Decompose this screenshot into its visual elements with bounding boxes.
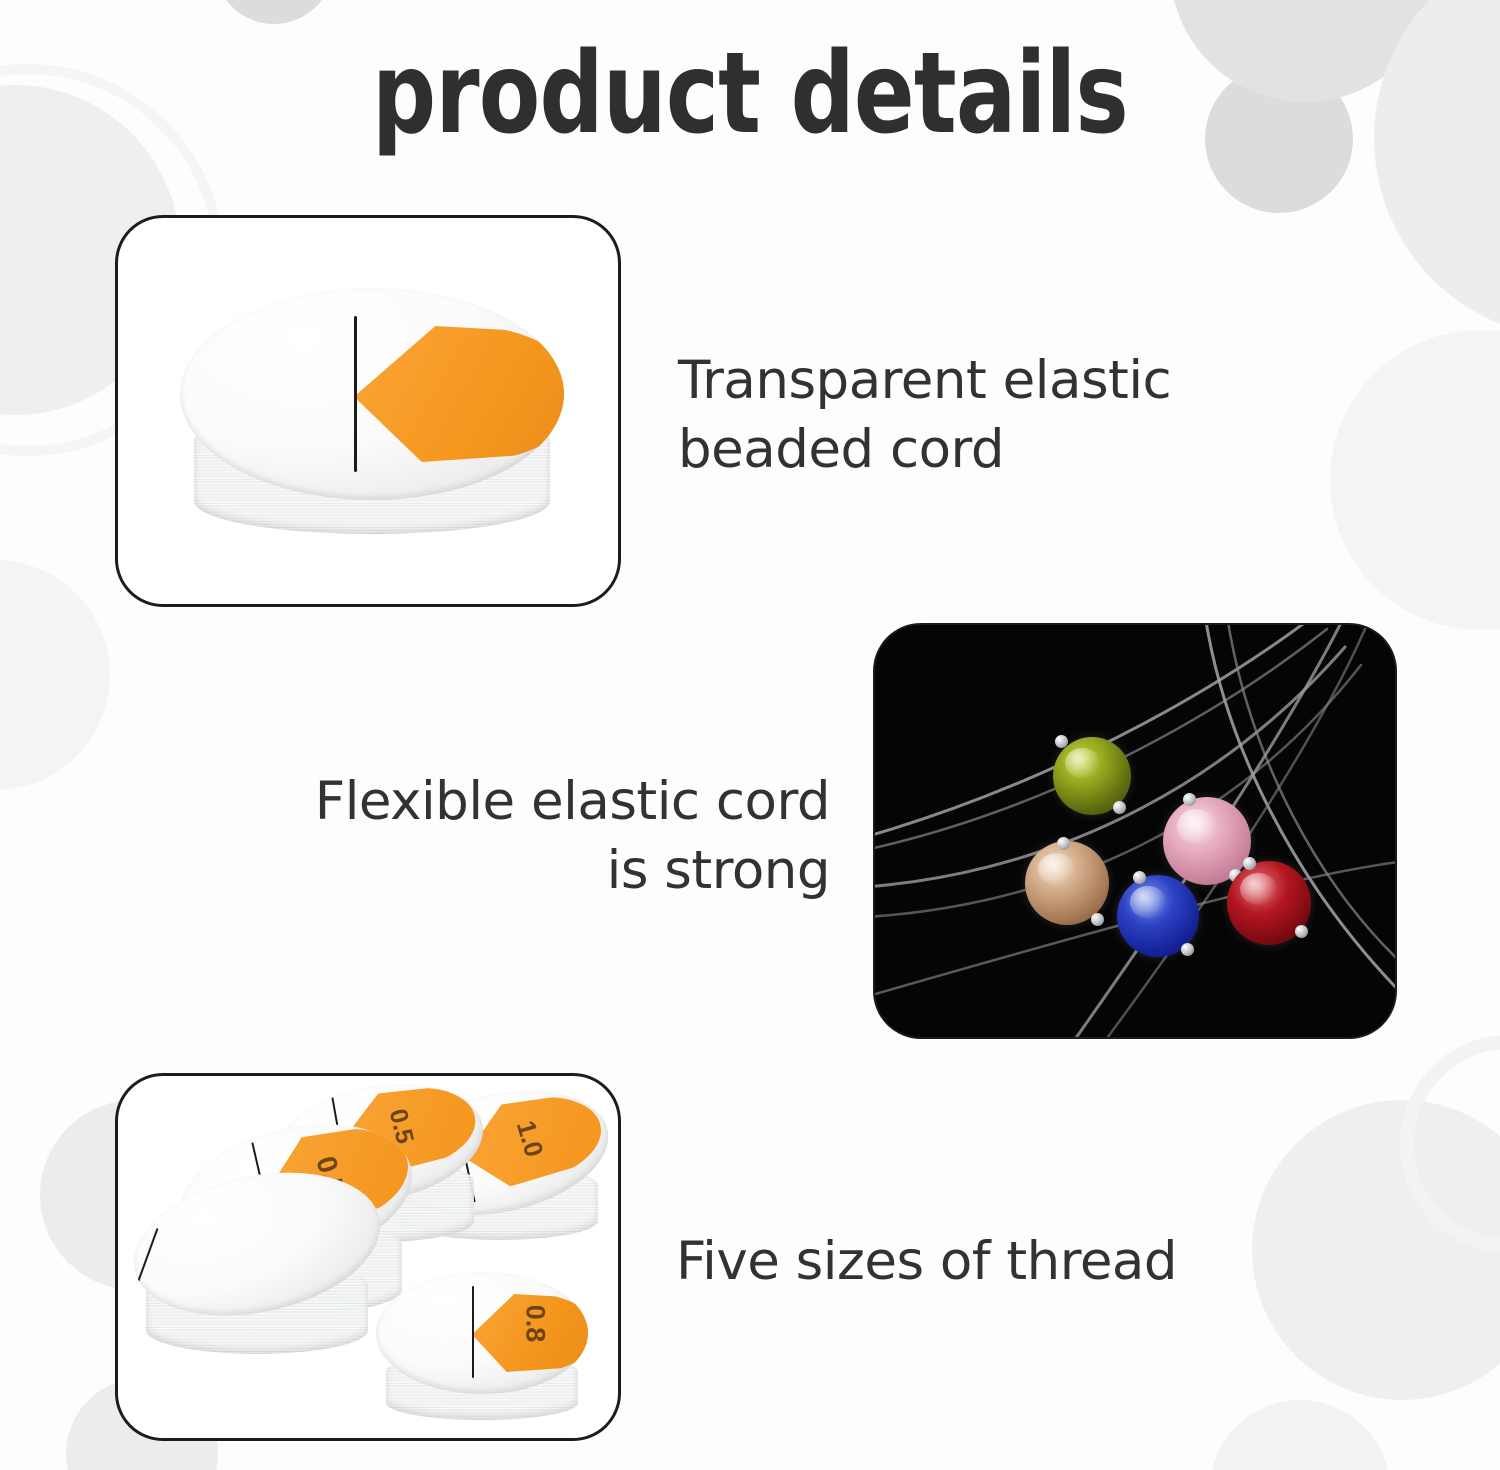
blue-gem-prong: [1181, 943, 1194, 956]
decor-circle-right-faint: [1374, 0, 1500, 338]
peridot-gem-prong: [1113, 801, 1126, 814]
decor-ring-bottom-right: [1400, 1035, 1500, 1253]
caption-transparent-elastic-beaded-cord: Transparent elastic beaded cord: [678, 347, 1278, 485]
decor-circle-top-left-dark: [214, 0, 334, 24]
spool-top-disc: 0.8: [376, 1272, 588, 1394]
champagne-gem-prong: [1091, 913, 1104, 926]
ruby-gem-prong: [1243, 857, 1256, 870]
page-title: product details: [150, 38, 1350, 150]
caption-flexible-elastic-cord-is-strong: Flexible elastic cord is strong: [230, 768, 830, 906]
blue-gem-prong: [1133, 871, 1146, 884]
peridot-gem-prong: [1055, 735, 1068, 748]
decor-circle-left-mid: [0, 560, 110, 790]
spool-plain-front: [132, 1176, 382, 1366]
pink-gem-prong: [1183, 793, 1196, 806]
champagne-gem-prong: [1057, 837, 1070, 850]
spool-orange-label: [354, 326, 564, 462]
spool-size-0-8: 0.8: [376, 1272, 588, 1432]
spool-top-disc: [180, 288, 564, 500]
decor-circle-bottom-center: [1210, 1400, 1390, 1470]
spool-single-clear: [180, 288, 564, 538]
panel-five-sizes-photo: 1.0 0.5 0.5: [115, 1073, 621, 1441]
spool-size-label-0-8: 0.8: [519, 1305, 550, 1343]
decor-circle-mid-right-faint: [1330, 330, 1500, 630]
ruby-gem-prong: [1295, 925, 1308, 938]
product-details-infographic: product details Transparent elastic bead…: [0, 0, 1500, 1470]
panel-gems-on-cord-photo: [875, 625, 1395, 1037]
spool-slit: [472, 1286, 474, 1378]
spool-slit: [354, 316, 357, 472]
clear-cord-strands: [875, 625, 1395, 1037]
panel-transparent-cord-photo: [115, 215, 621, 607]
caption-five-sizes-of-thread: Five sizes of thread: [676, 1228, 1296, 1297]
